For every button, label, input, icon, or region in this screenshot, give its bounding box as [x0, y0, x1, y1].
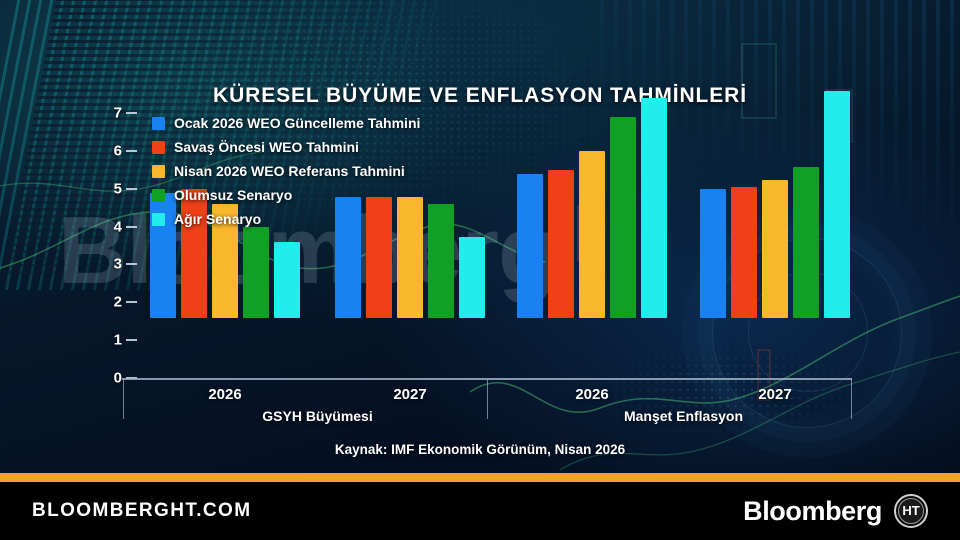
footer-website: BLOOMBERGHT.COM: [32, 500, 251, 522]
legend-item: Olumsuz Senaryo: [152, 184, 420, 206]
bar: [700, 189, 726, 318]
legend-label: Ağır Senaryo: [174, 211, 261, 227]
footer-brand: Bloomberg HT: [743, 494, 928, 528]
legend-item: Nisan 2026 WEO Referans Tahmini: [152, 160, 420, 182]
legend-label: Savaş Öncesi WEO Tahmini: [174, 139, 359, 155]
bar: [824, 91, 850, 318]
chart-legend: Ocak 2026 WEO Güncelleme TahminiSavaş Ön…: [152, 112, 420, 232]
bar: [428, 204, 454, 318]
legend-label: Olumsuz Senaryo: [174, 187, 292, 203]
bar: [731, 187, 757, 318]
chart-plot-area: 01234567 2026202720262027 GSYH BüyümesiM…: [0, 0, 960, 480]
legend-swatch-icon: [152, 141, 165, 154]
svg-text:HT: HT: [902, 503, 919, 518]
infographic-canvas: Bloomberg KÜRESEL BÜYÜME VE ENFLASYON TA…: [0, 0, 960, 540]
bloomberght-badge-icon: HT: [894, 494, 928, 528]
legend-label: Nisan 2026 WEO Referans Tahmini: [174, 163, 405, 179]
legend-swatch-icon: [152, 213, 165, 226]
x-axis-year-label: 2026: [208, 386, 241, 403]
bar: [641, 98, 667, 318]
bar: [274, 242, 300, 318]
bar: [517, 174, 543, 318]
x-axis-year-label: 2027: [393, 386, 426, 403]
legend-item: Ağır Senaryo: [152, 208, 420, 230]
x-axis-section-label: Manşet Enflasyon: [624, 408, 743, 424]
x-axis-section-label: GSYH Büyümesi: [262, 408, 372, 424]
x-axis-year-label: 2027: [758, 386, 791, 403]
bar-series-layer: [0, 0, 960, 480]
bar: [459, 237, 485, 318]
chart-source: Kaynak: IMF Ekonomik Görünüm, Nisan 2026: [0, 442, 960, 457]
bar: [762, 180, 788, 318]
bar: [610, 117, 636, 318]
legend-swatch-icon: [152, 117, 165, 130]
bloomberg-wordmark: Bloomberg: [743, 496, 882, 527]
footer: BLOOMBERGHT.COM Bloomberg HT: [0, 482, 960, 540]
bar: [793, 167, 819, 318]
bar: [548, 170, 574, 318]
bar: [579, 151, 605, 318]
legend-item: Ocak 2026 WEO Güncelleme Tahmini: [152, 112, 420, 134]
x-axis-year-label: 2026: [575, 386, 608, 403]
legend-item: Savaş Öncesi WEO Tahmini: [152, 136, 420, 158]
legend-label: Ocak 2026 WEO Güncelleme Tahmini: [174, 115, 420, 131]
legend-swatch-icon: [152, 189, 165, 202]
legend-swatch-icon: [152, 165, 165, 178]
bar: [243, 227, 269, 318]
accent-bar: [0, 473, 960, 482]
